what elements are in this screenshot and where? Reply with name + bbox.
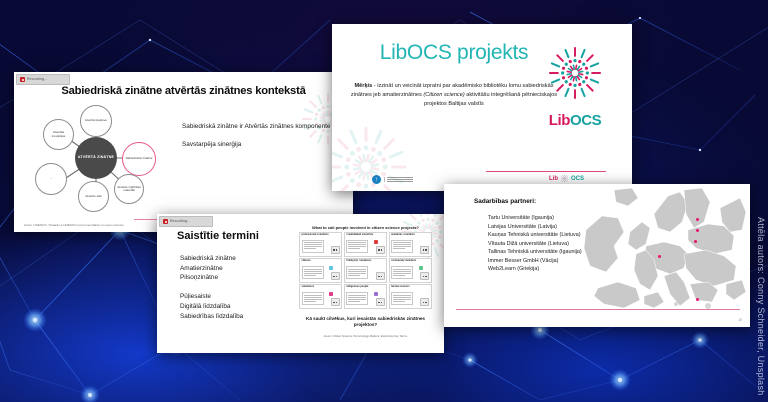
diagram-center-node: ATVĒRTĀ ZINĀTNE — [75, 137, 117, 179]
comic-speech-bubble — [391, 266, 413, 279]
comic-panel: professional scientists — [299, 232, 342, 257]
comic-panel: human sensors — [389, 284, 432, 309]
libocs-burst-icon — [544, 42, 606, 104]
comic-robot-icon — [420, 272, 429, 280]
comic-robot-icon — [331, 246, 340, 254]
recording-badge-slide3: Recording... — [159, 216, 213, 227]
recording-label: Recording... — [170, 220, 191, 223]
comic-panel-label: human sensors — [391, 286, 409, 289]
comic-speech-bubble — [302, 266, 324, 279]
goal-label: Mērķis — [355, 83, 373, 89]
comic-accent-object — [329, 292, 333, 296]
term-item: Pilsoņzinātne — [180, 273, 300, 283]
footer-logo-lib: Lib — [549, 176, 558, 182]
slide1-source: Avots: UNESCO. Towards a UNESCO recommen… — [24, 223, 124, 227]
slide-open-science-context[interactable]: Recording... Sabiedriskā zinātne atvērtā… — [14, 72, 353, 232]
comic-robot-icon — [420, 246, 429, 254]
recording-label: Recording... — [27, 78, 48, 81]
comic-speech-bubble — [391, 240, 413, 253]
slide1-title: Sabiedriskā zinātne atvērtās zinātnes ko… — [14, 85, 353, 97]
comic-accent-object — [419, 266, 423, 270]
comic-panel-label: citizens — [302, 260, 311, 263]
slide4-title: Sadarbības partneri: — [474, 198, 536, 205]
comic-robot-icon — [376, 246, 385, 254]
slide4-divider — [456, 309, 740, 310]
slide3-terms-list: Sabiedriskā zinātne Amatierzinātne Pilso… — [180, 254, 300, 321]
comic-panel: indigenous people — [344, 284, 387, 309]
comic-panel-label: hobbyists / amateurs — [346, 260, 371, 263]
slide1-bullet-1: Sabiedriskā zinātne ir Atvērtās zinātnes… — [182, 122, 342, 131]
diagram-node-open-innovation: Atvērtās inovācijas — [43, 119, 74, 150]
comic-robot-icon — [376, 298, 385, 306]
slide3-title: Saistītie termini — [177, 230, 259, 242]
slide2-footer: ↑ Lib OCS — [332, 169, 632, 185]
diagram-node-open-data: Atvērtie dati — [78, 181, 109, 212]
footer-libocs-logo: Lib OCS — [549, 174, 584, 183]
comic-panel: citizens — [299, 258, 342, 283]
comic-panel-grid: professional scientistscredentialed scie… — [299, 232, 432, 309]
comic-panel: volunteers — [299, 284, 342, 309]
comic-panel-label: volunteers — [302, 286, 315, 289]
library-logo: ↑ — [372, 175, 413, 184]
term-item: Amatierzinātne — [180, 264, 300, 274]
comic-panel-label: community members — [391, 260, 416, 263]
record-icon — [163, 219, 168, 224]
partner-item: Web2Learn (Grieķija) — [488, 265, 582, 274]
diagram-node-citizen-science: Sabiedriskā zinātne — [122, 142, 156, 176]
comic-panel: academic scientists — [389, 232, 432, 257]
comic-panel: community members — [389, 258, 432, 283]
diagram-node-other: ... — [35, 163, 67, 195]
recording-badge-slide1: Recording... — [16, 74, 70, 85]
comic-robot-icon — [420, 298, 429, 306]
open-science-diagram: ATVĒRTĀ ZINĀTNE Atvērtā piekļuve Atvērtā… — [22, 102, 170, 214]
term-item: Digitālā līdzdalība — [180, 302, 300, 312]
comic-accent-object — [329, 266, 333, 270]
comic-speech-bubble — [302, 292, 324, 305]
footer-divider — [486, 171, 606, 172]
slide4-page-number: 10 — [738, 318, 742, 322]
comic-source: Avots: Citizen Science Terminology Matte… — [297, 334, 434, 338]
footer-burst-icon — [560, 174, 569, 183]
comic-speech-bubble — [302, 240, 324, 253]
library-mark-icon: ↑ — [372, 175, 381, 184]
comic-panel-label: professional scientists — [302, 234, 329, 237]
list-spacer — [180, 283, 300, 292]
diagram-node-open-access: Atvērtā piekļuve — [80, 105, 112, 137]
diagram-node-open-edu-resources: Atvērtie izglītības materiāli — [114, 174, 144, 204]
term-item: Pūļiesaiste — [180, 292, 300, 302]
comic-speech-bubble — [346, 292, 368, 305]
partner-item: Kauņas Tehniskā universitāte (Lietuva) — [488, 231, 582, 240]
comic-accent-object — [374, 240, 378, 244]
image-credit: Attēla autors: Conny Schneider, Unsplash — [756, 217, 766, 396]
partners-list: Tartu Universitāte (Igaunija)Latvijas Un… — [488, 214, 582, 274]
footer-logo-ocs: OCS — [571, 176, 584, 182]
libocs-logo: LibOCS — [536, 42, 614, 129]
partner-item: Tallinas Tehniskā universitāte (Igaunija… — [488, 248, 582, 257]
comic-speech-bubble — [346, 266, 368, 279]
partner-item: Vītauta Dižā universitāte (Lietuva) — [488, 240, 582, 249]
comic-panel-label: credentialed scientists — [346, 234, 373, 237]
term-item: Sabiedriskā zinātne — [180, 254, 300, 264]
slide2-title: LibOCS projekts — [354, 41, 554, 65]
comic-speech-bubble — [391, 292, 413, 305]
logo-ocs: OCS — [570, 112, 601, 129]
record-icon — [20, 77, 25, 82]
comic-panel-label: indigenous people — [346, 286, 368, 289]
comic-robot-icon — [331, 298, 340, 306]
slide-partners[interactable]: Sadarbības partneri: Tartu Universitāte … — [444, 184, 750, 327]
slide-libocs-project[interactable]: LibOCS projekts Mērķis - izzināt un veic… — [332, 24, 632, 191]
slide1-bullets: Sabiedriskā zinātne ir Atvērtās zinātnes… — [182, 122, 342, 159]
goal-italic: (Citizen science) — [423, 92, 464, 98]
europe-map — [584, 188, 746, 312]
slide-related-terms[interactable]: Recording... Saistītie termini Sabiedris… — [157, 214, 444, 353]
comic-figure: What to call people involved in citizen … — [297, 225, 434, 341]
slide1-bullet-2: Savstarpēja sinerģija — [182, 140, 342, 149]
comic-heading: What to call people involved in citizen … — [297, 225, 434, 230]
comic-accent-object — [374, 292, 378, 296]
term-item: Sabiedrības līdzdalība — [180, 312, 300, 322]
comic-question: Kā saukt cilvēkus, kuri iesaistās sabied… — [297, 316, 434, 328]
comic-panel-label: academic scientists — [391, 234, 415, 237]
comic-panel: credentialed scientists — [344, 232, 387, 257]
logo-lib: Lib — [549, 112, 570, 129]
slide2-goal-text: Mērķis - izzināt un veicināt izpratni pa… — [346, 82, 562, 109]
partner-item: Latvijas Universitāte (Latvija) — [488, 223, 582, 232]
partner-item: Immer Besser GmbH (Vācija) — [488, 257, 582, 266]
library-name-placeholder — [384, 177, 413, 182]
comic-robot-icon — [331, 272, 340, 280]
partner-item: Tartu Universitāte (Igaunija) — [488, 214, 582, 223]
comic-panel: hobbyists / amateurs — [344, 258, 387, 283]
comic-robot-icon — [376, 272, 385, 280]
comic-speech-bubble — [346, 240, 368, 253]
libocs-wordmark: LibOCS — [536, 112, 614, 129]
